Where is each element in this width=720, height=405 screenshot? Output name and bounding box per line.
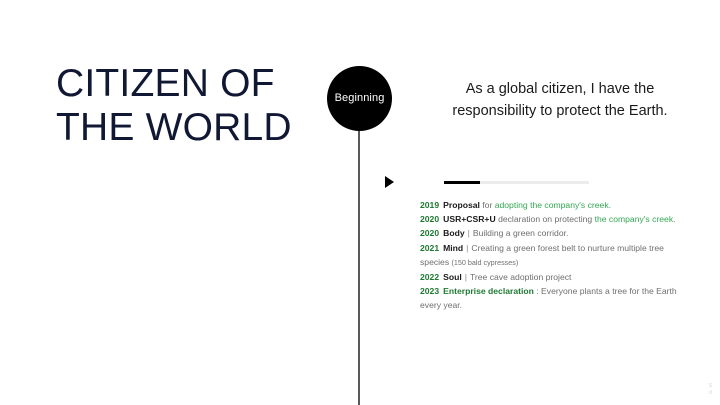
- timeline-entry: 2023Enterprise declaration : Everyone pl…: [420, 284, 682, 312]
- triangle-right-icon: [385, 176, 394, 188]
- timeline-entry-text: Tree cave adoption project: [470, 272, 571, 282]
- timeline-entry-year: 2020: [420, 228, 439, 238]
- timeline-entry-text: adopting the company's creek.: [495, 200, 611, 210]
- timeline-entry-key: USR+CSR+U: [443, 214, 496, 224]
- timeline-entry: 2020Body|Building a green corridor.: [420, 226, 682, 240]
- timeline-entry: 2019Proposal for adopting the company's …: [420, 198, 682, 212]
- timeline-entry-text: Building a green corridor.: [473, 228, 569, 238]
- page-title: CITIZEN OF THE WORLD: [56, 62, 326, 150]
- timeline-entry-text: the company's creek.: [595, 214, 676, 224]
- timeline-entry-year: 2023: [420, 286, 439, 296]
- timeline-entry-separator: |: [465, 272, 467, 282]
- timeline-entry-list: 2019Proposal for adopting the company's …: [420, 198, 682, 313]
- timeline-entry-separator: |: [468, 228, 470, 238]
- timeline-entry-key: Mind: [443, 243, 463, 253]
- timeline-entry: 2021Mind|Creating a green forest belt to…: [420, 241, 682, 270]
- timeline-node-beginning[interactable]: Beginning: [327, 66, 392, 131]
- headline-text: As a global citizen, I have the responsi…: [424, 78, 696, 122]
- timeline-entry-year: 2022: [420, 272, 439, 282]
- progress-bar-fill: [444, 181, 480, 184]
- slide-canvas: CITIZEN OF THE WORLD Beginning As a glob…: [0, 0, 720, 405]
- timeline-entry-separator: |: [466, 243, 468, 253]
- timeline-entry: 2022Soul|Tree cave adoption project: [420, 270, 682, 284]
- timeline-entry-text: declaration on protecting: [498, 214, 595, 224]
- timeline-entry: 2020USR+CSR+U declaration on protecting …: [420, 212, 682, 226]
- timeline-entry-text: (150 bald cypresses): [452, 258, 519, 267]
- timeline-entry-key: Body: [443, 228, 464, 238]
- timeline-node-label: Beginning: [335, 92, 385, 105]
- timeline-axis: [358, 128, 360, 405]
- timeline-entry-year: 2020: [420, 214, 439, 224]
- footer-mark: S d: [709, 383, 712, 397]
- timeline-entry-year: 2019: [420, 200, 439, 210]
- progress-bar-track: [444, 181, 589, 184]
- timeline-entry-key: Enterprise declaration: [443, 286, 534, 296]
- timeline-entry-key: Soul: [443, 272, 462, 282]
- timeline-entry-key: Proposal: [443, 200, 480, 210]
- timeline-entry-year: 2021: [420, 243, 439, 253]
- timeline-entry-text: for: [482, 200, 494, 210]
